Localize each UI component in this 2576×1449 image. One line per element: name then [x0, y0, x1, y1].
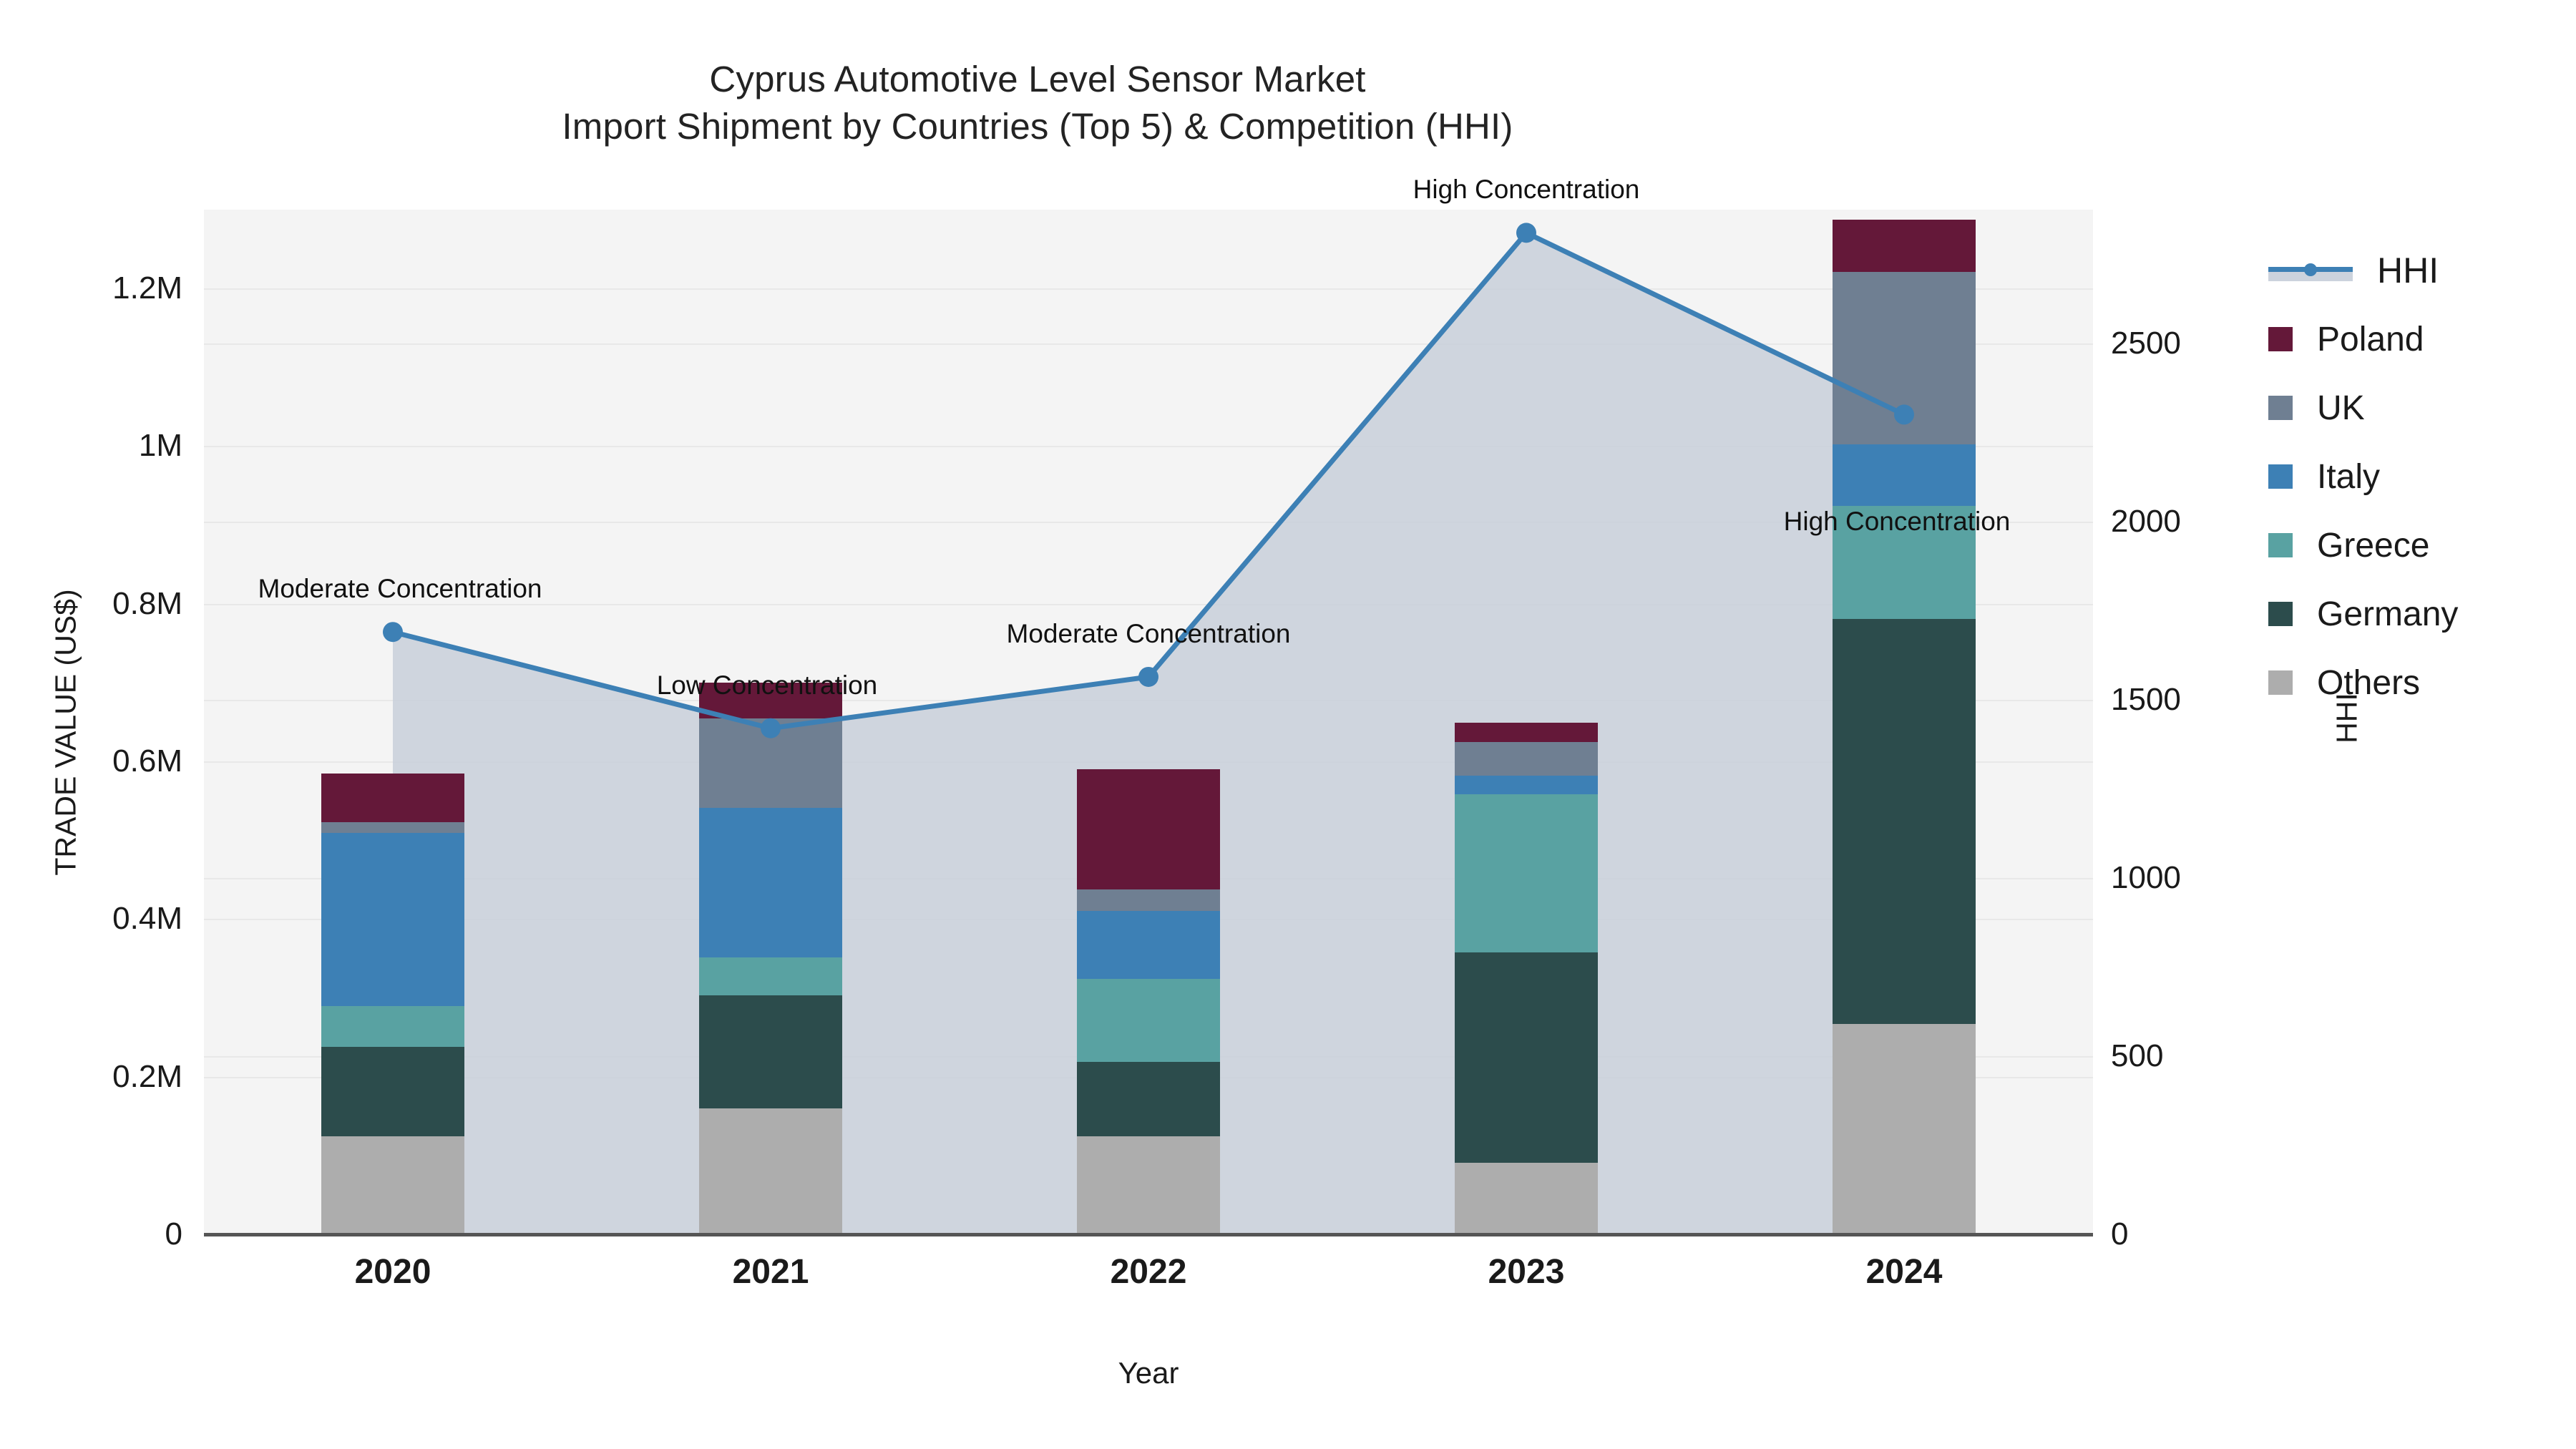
hhi-line-path	[393, 233, 1904, 728]
x-tick-2024: 2024	[1797, 1252, 2011, 1292]
annotation-2022: Moderate Concentration	[1007, 619, 1291, 649]
chart-title: Cyprus Automotive Level Sensor Market Im…	[0, 56, 2075, 151]
legend-label-others: Others	[2317, 663, 2420, 703]
x-tick-2021: 2021	[663, 1252, 878, 1292]
hhi-marker-2023[interactable]	[1516, 223, 1536, 243]
legend-swatch-poland	[2268, 327, 2293, 351]
legend-label-uk: UK	[2317, 389, 2365, 428]
y-left-tick-0.4M: 0.4M	[0, 901, 182, 937]
legend-label-italy: Italy	[2317, 457, 2380, 497]
legend-label-germany: Germany	[2317, 595, 2458, 634]
x-axis-label: Year	[204, 1356, 2093, 1390]
legend-swatch-italy	[2268, 464, 2293, 489]
y-right-tick-1000: 1000	[2111, 860, 2297, 896]
chart-title-line-1: Cyprus Automotive Level Sensor Market	[0, 56, 2075, 103]
hhi-marker-2022[interactable]	[1138, 667, 1158, 687]
annotation-2024: High Concentration	[1784, 507, 2011, 537]
legend-line-marker	[2268, 258, 2353, 283]
hhi-marker-2024[interactable]	[1894, 404, 1914, 424]
annotation-2020: Moderate Concentration	[258, 574, 542, 604]
y-axis-left-label: TRADE VALUE (US$)	[49, 547, 83, 919]
annotation-2023: High Concentration	[1413, 175, 1640, 205]
y-left-tick-0: 0	[0, 1216, 182, 1252]
x-tick-2022: 2022	[1041, 1252, 1256, 1292]
y-right-tick-0: 0	[2111, 1216, 2297, 1252]
legend-swatch-uk	[2268, 396, 2293, 420]
legend-label-greece: Greece	[2317, 526, 2429, 565]
y-left-tick-1.2M: 1.2M	[0, 270, 182, 306]
x-tick-2023: 2023	[1419, 1252, 1634, 1292]
legend-item-italy[interactable]: Italy	[2268, 442, 2569, 511]
legend-item-others[interactable]: Others	[2268, 648, 2569, 717]
y-left-tick-0.8M: 0.8M	[0, 586, 182, 622]
x-axis-line	[204, 1233, 2093, 1236]
annotation-2021: Low Concentration	[657, 670, 878, 701]
plot-area	[204, 210, 2093, 1234]
legend-swatch-germany	[2268, 602, 2293, 626]
hhi-marker-2021[interactable]	[761, 718, 781, 738]
y-right-tick-500: 500	[2111, 1038, 2297, 1074]
chart-title-line-2: Import Shipment by Countries (Top 5) & C…	[0, 103, 2075, 150]
chart-legend: HHIPolandUKItalyGreeceGermanyOthers	[2268, 236, 2569, 717]
legend-item-poland[interactable]: Poland	[2268, 305, 2569, 374]
legend-item-hhi[interactable]: HHI	[2268, 236, 2569, 305]
legend-label-poland: Poland	[2317, 320, 2424, 359]
legend-swatch-others	[2268, 670, 2293, 695]
hhi-line-series	[204, 210, 2093, 1234]
legend-label-hhi: HHI	[2377, 250, 2439, 291]
hhi-marker-2020[interactable]	[383, 622, 403, 642]
y-left-tick-0.2M: 0.2M	[0, 1059, 182, 1095]
y-left-tick-0.6M: 0.6M	[0, 743, 182, 779]
legend-item-germany[interactable]: Germany	[2268, 580, 2569, 648]
legend-item-greece[interactable]: Greece	[2268, 511, 2569, 580]
x-tick-2020: 2020	[286, 1252, 500, 1292]
legend-item-uk[interactable]: UK	[2268, 374, 2569, 442]
y-left-tick-1M: 1M	[0, 428, 182, 464]
legend-swatch-greece	[2268, 533, 2293, 557]
